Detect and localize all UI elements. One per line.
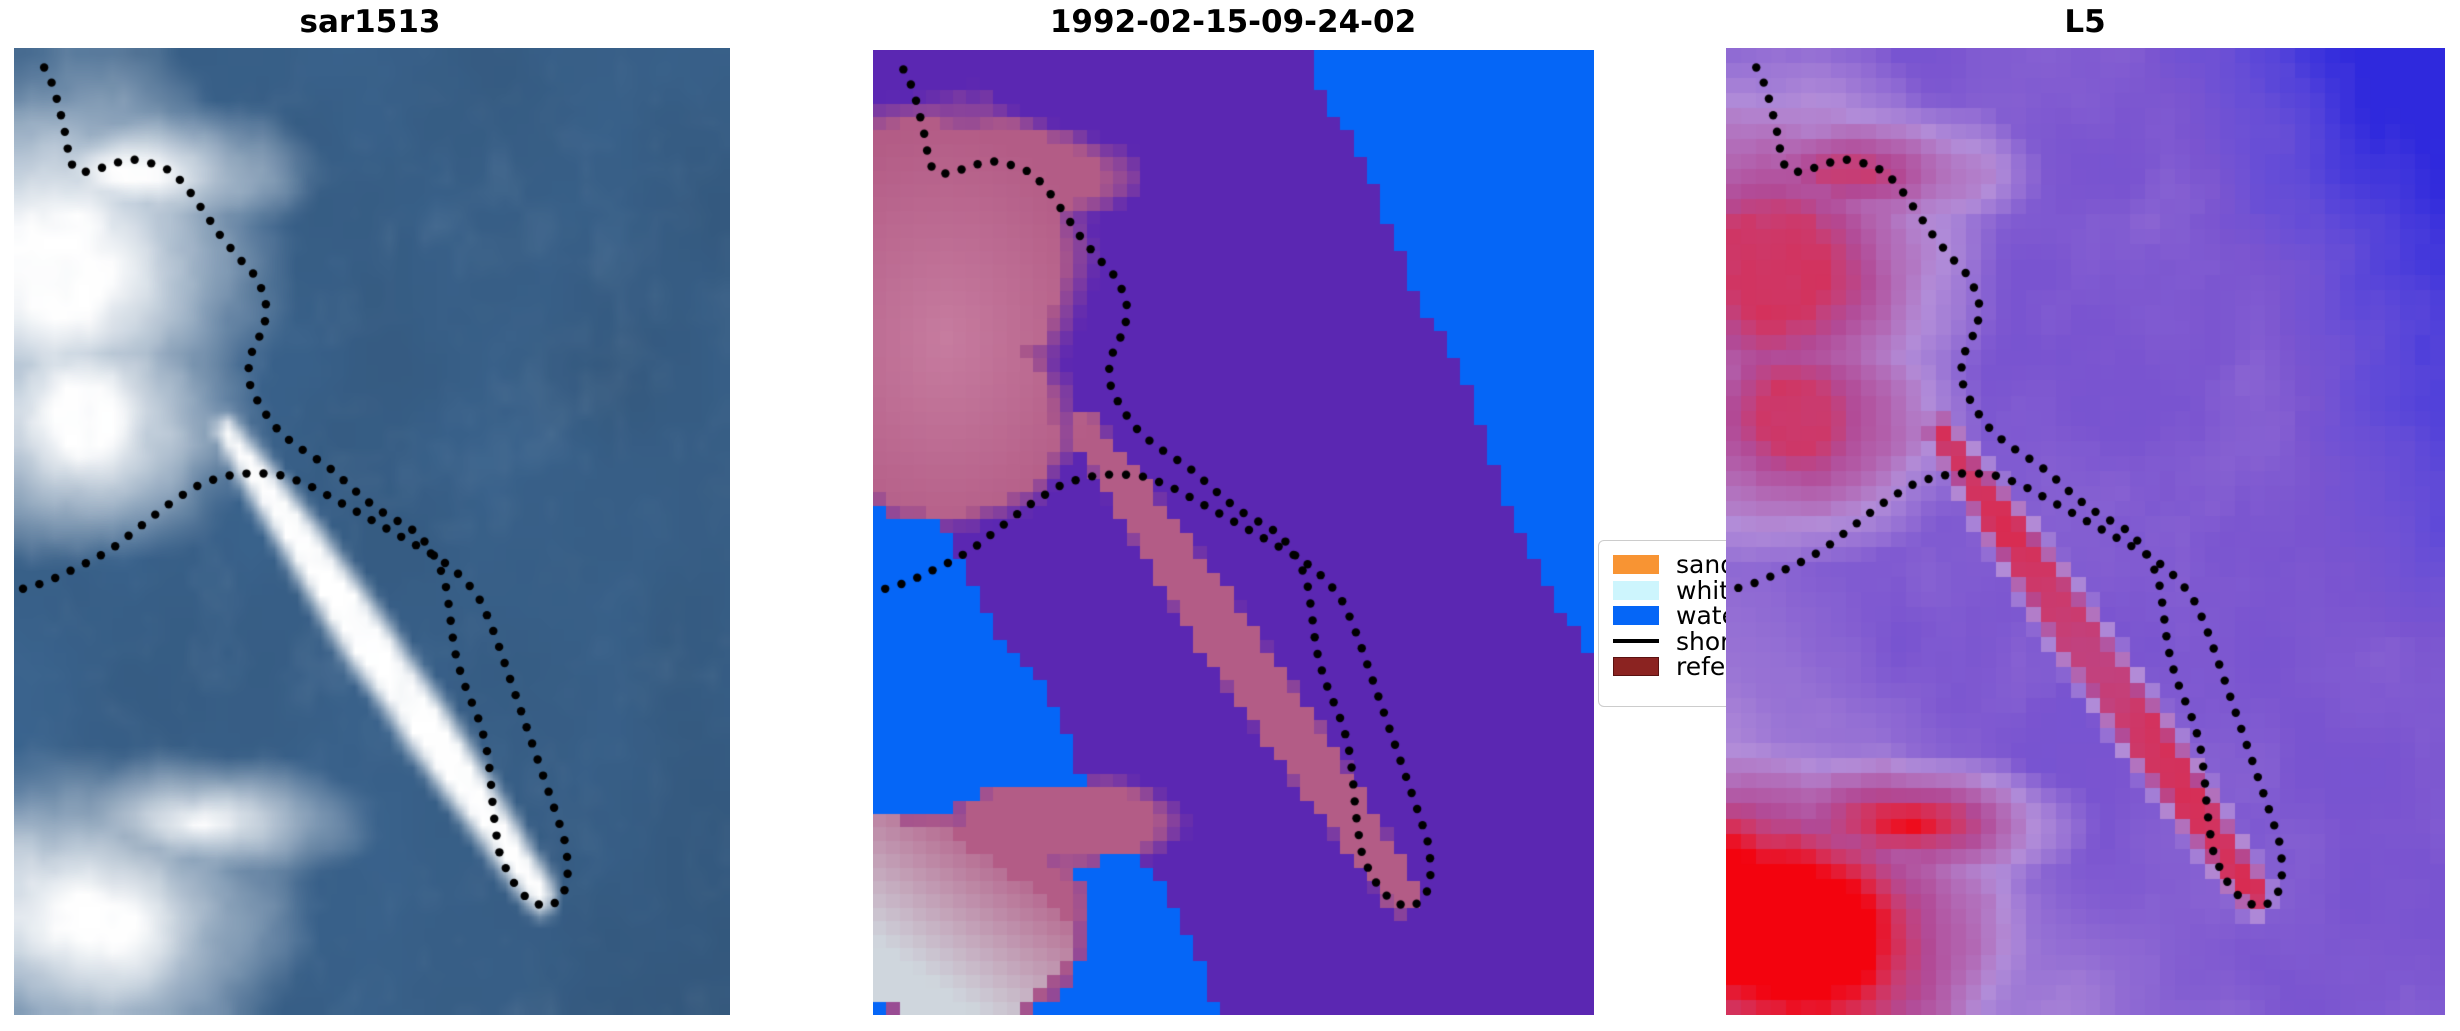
panel-l5-image (1726, 48, 2445, 1015)
classified-image-canvas (873, 50, 1594, 1015)
legend-color-swatch-icon (1613, 606, 1659, 625)
legend-line-swatch-icon (1613, 639, 1659, 643)
panel-title-sar: sar1513 (300, 4, 441, 40)
l5-image-canvas (1726, 48, 2445, 1015)
panel-title-classified: 1992-02-15-09-24-02 (1050, 4, 1416, 40)
legend-color-swatch-icon (1613, 581, 1659, 600)
sar-image-canvas (14, 48, 730, 1015)
panel-sar-image (14, 48, 730, 1015)
legend-color-swatch-icon (1613, 657, 1659, 676)
legend-color-swatch-icon (1613, 555, 1659, 574)
panel-title-l5: L5 (2064, 4, 2105, 40)
figure-canvas: sar1513 1992-02-15-09-24-02 L5 sandwhite… (0, 0, 2460, 1031)
panel-classified-image (873, 50, 1594, 1015)
